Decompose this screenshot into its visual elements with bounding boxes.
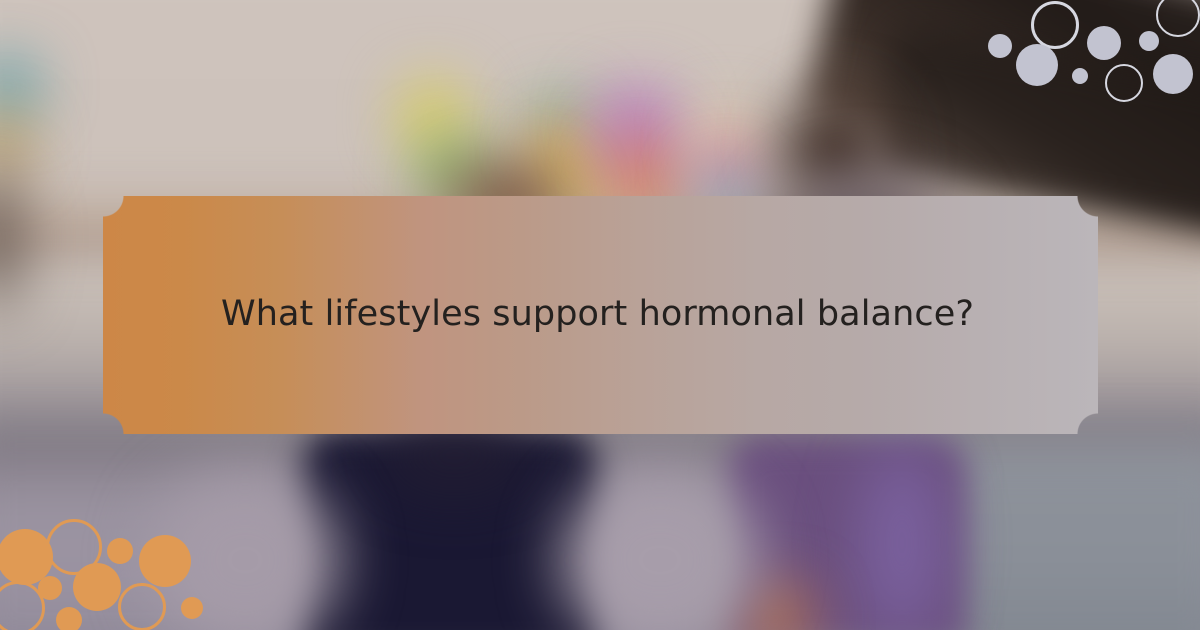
question-card-graphic: What lifestyles support hormonal balance…	[0, 0, 1200, 630]
decorative-circle-filled-small-3	[107, 538, 133, 564]
question-text: What lifestyles support hormonal balance…	[103, 293, 1098, 337]
decorative-circle-filled-mid-2	[139, 535, 191, 587]
decorative-circle-filled-small-2	[56, 607, 82, 630]
decorative-circle-ring-large-1	[1031, 1, 1079, 49]
decorative-circle-filled-small-1	[988, 34, 1012, 58]
question-card: What lifestyles support hormonal balance…	[103, 196, 1098, 434]
decorative-circle-filled-small-2	[1072, 68, 1088, 84]
decorative-circle-filled-mid-1	[1087, 26, 1121, 60]
decorative-circle-ring-mid-1	[118, 583, 166, 630]
decorative-circle-filled-mid-1	[73, 563, 121, 611]
person-right-skirt-highlight	[862, 448, 942, 630]
decorative-circle-filled-small-1	[38, 576, 62, 600]
decorative-circle-filled-small-4	[181, 597, 203, 619]
decorative-circle-filled-small-3	[1139, 31, 1159, 51]
decorative-circle-ring-large-2	[1105, 64, 1143, 102]
decorative-circle-filled-large-2	[1153, 54, 1193, 94]
decorative-circle-filled-large-1	[1016, 44, 1058, 86]
